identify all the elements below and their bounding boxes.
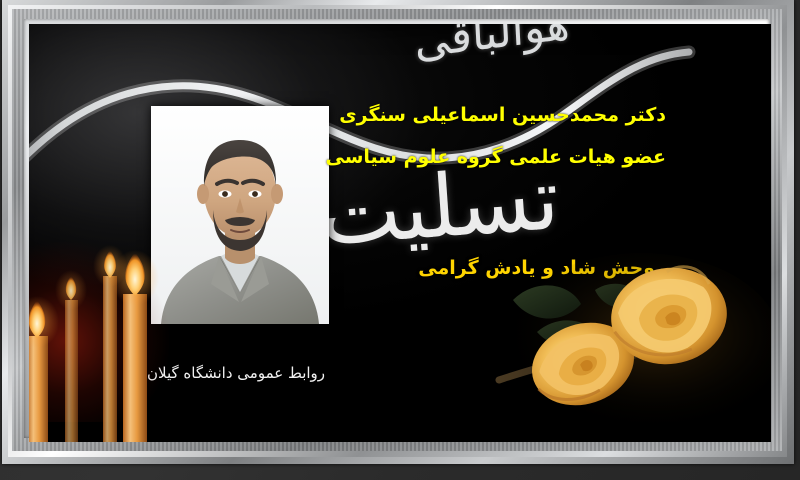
- portrait-photo: [151, 106, 329, 324]
- organization-credit: روابط عمومی دانشگاه گیلان: [147, 364, 325, 382]
- blessing-line: روحش شاد و یادش گرامی: [418, 257, 666, 279]
- deceased-name: دکتر محمدحسین اسماعیلی سنگری: [339, 104, 666, 126]
- deceased-role: عضو هیات علمی گروه علوم سیاسی: [326, 146, 667, 168]
- silver-swoosh-icon: [29, 24, 769, 234]
- condolence-poster: هوالباقی تسلیت: [0, 0, 800, 480]
- invocation-calligraphy: هوالباقی: [387, 24, 598, 69]
- candle-ambient-glow: [29, 242, 169, 422]
- condolence-watermark: تسلیت: [326, 156, 561, 258]
- poster-canvas: هوالباقی تسلیت: [29, 24, 771, 442]
